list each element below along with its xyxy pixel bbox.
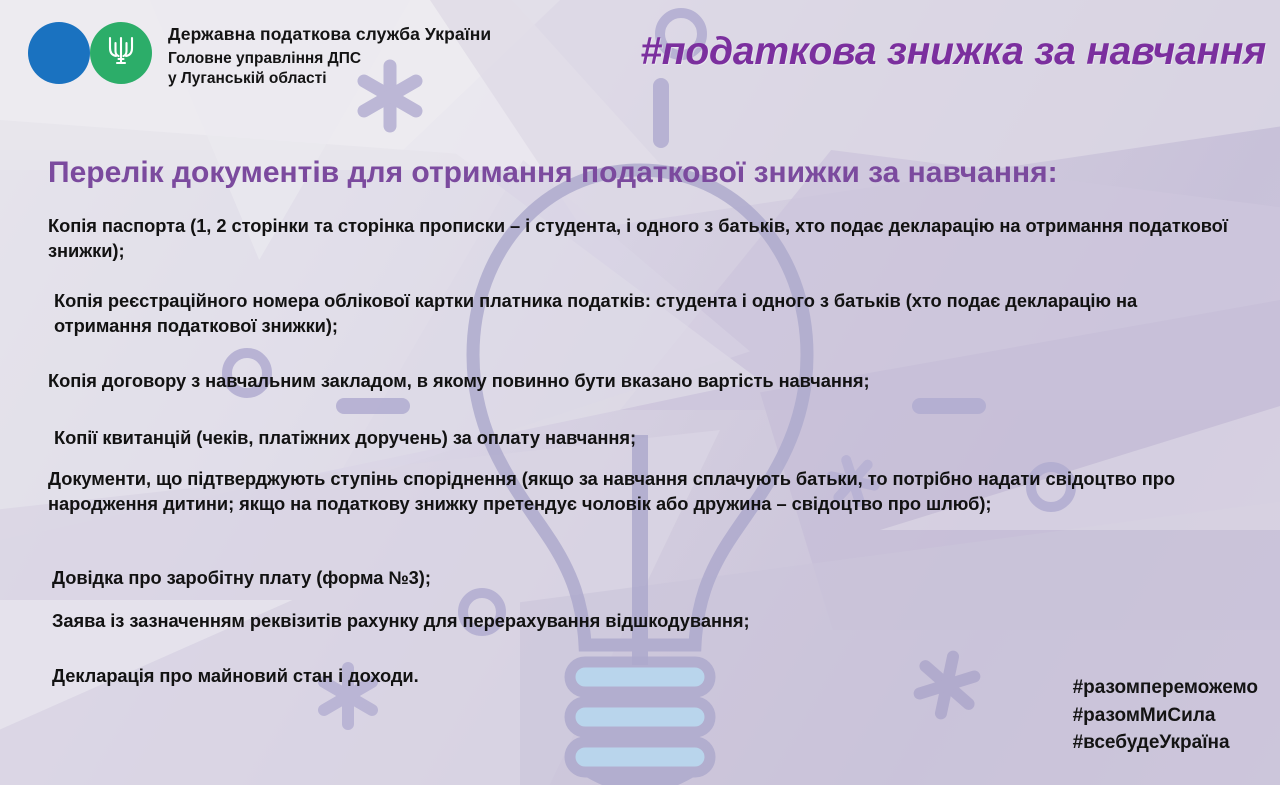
rounded-bar-icon xyxy=(336,398,410,414)
list-item: Копія реєстраційного номера облікової ка… xyxy=(54,288,1232,338)
rounded-bar-icon xyxy=(912,398,986,414)
org-line-1: Державна податкова служба України xyxy=(168,24,491,46)
hashtag-3: #всебудеУкраїна xyxy=(1073,729,1258,757)
list-item: Довідка про заробітну плату (форма №3); xyxy=(52,565,952,590)
dps-logo xyxy=(28,22,158,84)
list-item: Заява із зазначенням реквізитів рахунку … xyxy=(52,608,1052,633)
tryzub-icon xyxy=(107,34,135,73)
hashtag-block: #разомпереможемо #разомМиСила #всебудеУк… xyxy=(1073,674,1258,757)
organization-name: Державна податкова служба України Головн… xyxy=(168,24,491,89)
hashtag-1: #разомпереможемо xyxy=(1073,674,1258,702)
poster-title: #податкова знижка за навчання xyxy=(640,30,1266,74)
list-item: Копія паспорта (1, 2 сторінки та сторінк… xyxy=(48,213,1228,263)
org-line-2: Головне управління ДПС у Луганській обла… xyxy=(168,49,491,89)
logo-green-circle xyxy=(90,22,152,84)
poster-canvas: Державна податкова служба України Головн… xyxy=(0,0,1280,785)
hashtag-2: #разомМиСила xyxy=(1073,702,1258,730)
poster-header: Державна податкова служба України Головн… xyxy=(0,0,1280,108)
list-item: Декларація про майновий стан і доходи. xyxy=(52,663,952,688)
list-item: Копії квитанцій (чеків, платіжних доруче… xyxy=(54,425,1214,450)
list-item: Копія договору з навчальним закладом, в … xyxy=(48,368,1228,393)
list-item: Документи, що підтверджують ступінь спор… xyxy=(48,466,1234,516)
logo-blue-circle xyxy=(28,22,90,84)
page-title: Перелік документів для отримання податко… xyxy=(48,156,1238,191)
